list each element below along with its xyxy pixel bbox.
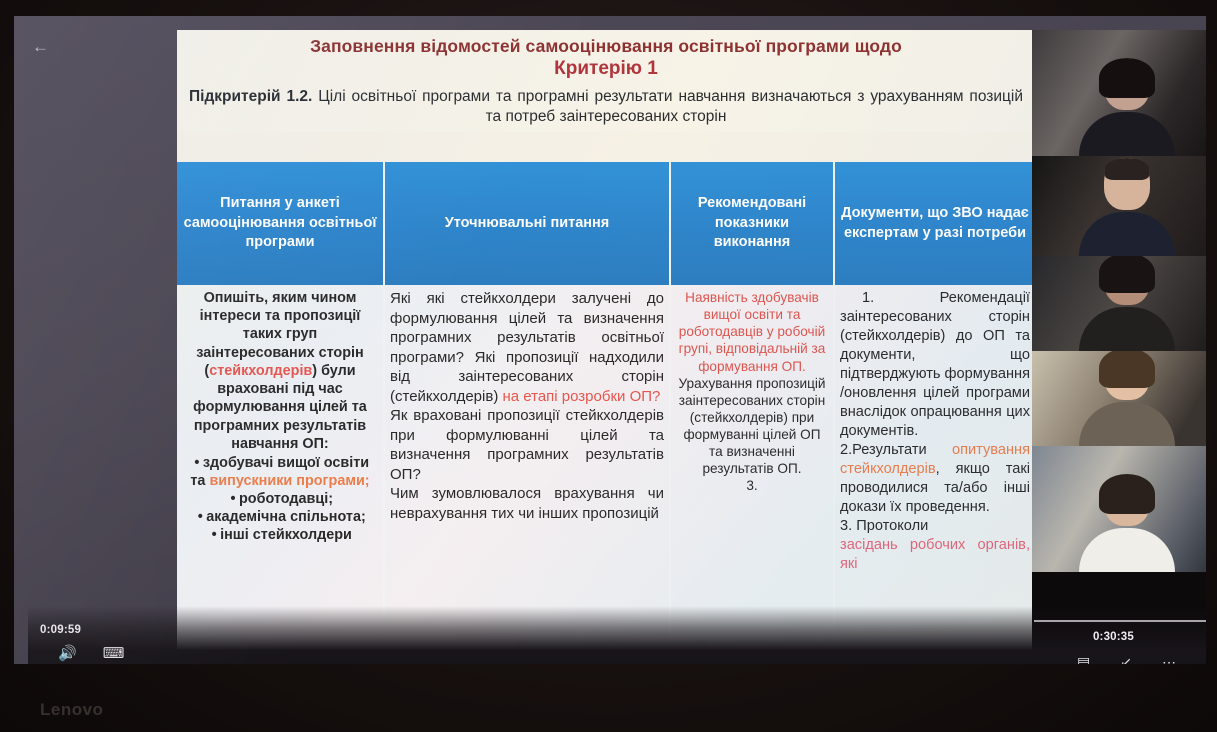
bullet-dot-icon: • bbox=[191, 454, 203, 472]
bullet-dot-icon: • bbox=[227, 490, 239, 508]
participant-tile-1[interactable] bbox=[1032, 30, 1206, 156]
column-body-4: 1. Рекомендації заінтересованих сторін (… bbox=[835, 285, 1035, 664]
present-screen-icon[interactable]: ⌨ bbox=[103, 644, 125, 662]
left-timer: 0:09:59 bbox=[40, 624, 81, 636]
col4-p3-a: 3. Протоколи bbox=[840, 517, 1030, 536]
table-column-2: Уточнювальні питання Які які стейкхолдер… bbox=[383, 162, 669, 664]
list-item: •інші стейкхолдери bbox=[182, 526, 378, 544]
bullet-text: інші стейкхолдери bbox=[220, 527, 352, 543]
col4-p2-a: 2.Результати bbox=[840, 442, 952, 458]
col1-bullet-list: •здобувачі вищої освіти та випускники пр… bbox=[182, 454, 378, 544]
right-control-buttons[interactable]: ▤ ↙ ⋯ bbox=[1077, 654, 1176, 664]
bullet-accent: випускники програми; bbox=[209, 473, 369, 489]
slide-subcriterion: Підкритерій 1.2. Цілі освітньої програми… bbox=[187, 87, 1025, 127]
avatar bbox=[1079, 58, 1175, 156]
more-options-icon[interactable]: ⋯ bbox=[1162, 654, 1176, 664]
criterion-table: Питання у анкеті самооцінювання освітньо… bbox=[177, 162, 1035, 664]
column-header-3: Рекомендовані показники виконання bbox=[671, 162, 833, 285]
left-control-buttons[interactable]: 🔊 ⌨ bbox=[58, 644, 124, 662]
col2-p1-highlight: на етапі розробки ОП? bbox=[502, 388, 660, 405]
avatar bbox=[1079, 474, 1175, 572]
slide-header: Заповнення відомостей самооцінювання осв… bbox=[177, 30, 1035, 132]
column-body-2: Які які стейкхолдери залучені до формулю… bbox=[385, 285, 669, 664]
table-column-1: Питання у анкеті самооцінювання освітньо… bbox=[177, 162, 383, 664]
col3-p2: Урахування пропозицій заінтересованих ст… bbox=[676, 375, 828, 478]
col1-intro-highlight: стейкхолдерів bbox=[209, 363, 312, 379]
list-item: •роботодавці; bbox=[182, 490, 378, 508]
bullet-text: роботодавці; bbox=[239, 491, 333, 507]
column-header-2: Уточнювальні питання bbox=[385, 162, 669, 285]
list-item: •здобувачі вищої освіти та випускники пр… bbox=[182, 454, 378, 490]
participant-video-strip bbox=[1032, 30, 1206, 664]
bullet-dot-icon: • bbox=[208, 526, 220, 544]
participant-tile-3[interactable] bbox=[1032, 256, 1206, 351]
table-column-3: Рекомендовані показники виконання Наявні… bbox=[669, 162, 833, 664]
participant-tile-4[interactable] bbox=[1032, 351, 1206, 446]
participant-tile-5[interactable] bbox=[1032, 446, 1206, 572]
col2-p2: Як враховані пропозиції стейкхолдерів пр… bbox=[390, 406, 664, 484]
avatar bbox=[1079, 158, 1175, 256]
slide-title-line1: Заповнення відомостей самооцінювання осв… bbox=[187, 36, 1025, 57]
exit-fullscreen-icon[interactable]: ↙ bbox=[1120, 654, 1132, 664]
column-header-4: Документи, що ЗВО надає експертам у разі… bbox=[835, 162, 1035, 285]
bullet-dot-icon: • bbox=[194, 508, 206, 526]
col2-p3: Чим зумовлювалося врахування чи неврахув… bbox=[390, 484, 664, 523]
back-arrow-icon[interactable]: ← bbox=[32, 38, 49, 55]
col3-p3-number: 3. bbox=[746, 478, 757, 493]
participant-tile-6[interactable] bbox=[1032, 572, 1206, 664]
list-item: •академічна спільнота; bbox=[182, 508, 378, 526]
right-timer: 0:30:35 bbox=[1093, 631, 1134, 643]
bullet-text: академічна спільнота; bbox=[206, 509, 366, 525]
laptop-photo: ← Заповнення відомостей самооцінювання о… bbox=[0, 0, 1217, 732]
avatar bbox=[1079, 256, 1175, 351]
column-body-3: Наявність здобувачів вищої освіти та роб… bbox=[671, 285, 833, 664]
avatar bbox=[1079, 351, 1175, 446]
column-body-1: Опишіть, яким чином інтереси та пропозиц… bbox=[177, 285, 383, 664]
table-column-4: Документи, що ЗВО надає експертам у разі… bbox=[833, 162, 1035, 664]
slide-title-line2: Критерію 1 bbox=[187, 58, 1025, 80]
video-seek-bar[interactable] bbox=[1034, 620, 1206, 622]
col4-p3-highlight: засідань робочих органів, які bbox=[840, 537, 1030, 572]
subcriterion-text: Цілі освітньої програми та програмні рез… bbox=[318, 88, 1023, 125]
column-header-1: Питання у анкеті самооцінювання освітньо… bbox=[177, 162, 383, 285]
laptop-screen: ← Заповнення відомостей самооцінювання о… bbox=[14, 16, 1206, 664]
col4-p1: 1. Рекомендації заінтересованих сторін (… bbox=[840, 289, 1030, 441]
device-brand-label: Lenovo bbox=[40, 700, 103, 720]
subcriterion-label-text: Підкритерій 1.2. bbox=[189, 88, 312, 105]
col3-p1: Наявність здобувачів вищої освіти та роб… bbox=[676, 289, 828, 375]
slide-thumbnail-icon[interactable]: ▤ bbox=[1077, 654, 1090, 664]
speaker-icon[interactable]: 🔊 bbox=[58, 644, 77, 662]
presentation-slide: Заповнення відомостей самооцінювання осв… bbox=[177, 30, 1035, 664]
participant-tile-2[interactable] bbox=[1032, 156, 1206, 256]
